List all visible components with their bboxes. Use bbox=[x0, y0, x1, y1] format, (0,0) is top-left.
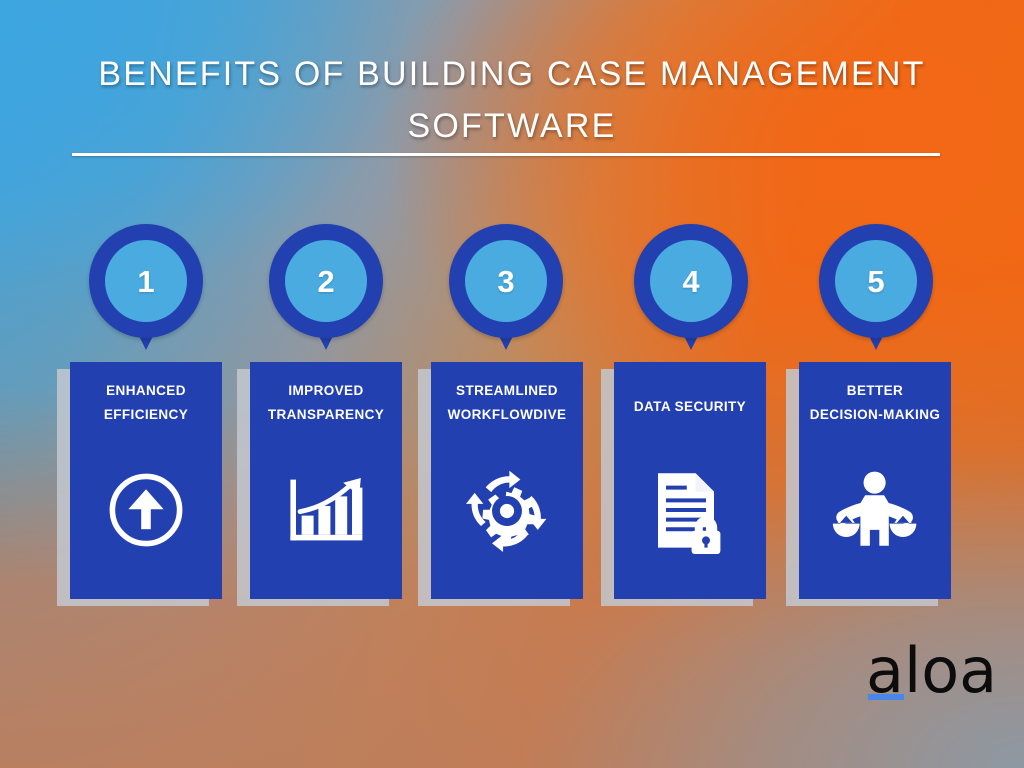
pin-number: 1 bbox=[137, 266, 154, 297]
aloa-logo[interactable]: aloa bbox=[866, 640, 1000, 706]
pin-number: 4 bbox=[682, 266, 699, 297]
pin-number: 3 bbox=[497, 266, 514, 297]
benefit-card-title-2: IMPROVED TRANSPARENCY bbox=[251, 379, 401, 426]
person-balance-scales-icon bbox=[799, 470, 951, 552]
benefit-card-5[interactable]: BETTER DECISION-MAKING bbox=[799, 362, 951, 599]
page-title-line-1: BENEFITS OF BUILDING CASE MANAGEMENT bbox=[98, 55, 925, 93]
pin-inner-circle: 1 bbox=[105, 240, 187, 322]
benefit-card-4[interactable]: DATA SECURITY bbox=[614, 362, 766, 599]
logo-underline-accent bbox=[868, 694, 904, 700]
benefit-card-3[interactable]: STREAMLINED WORKFLOWDIVE bbox=[431, 362, 583, 599]
card-title-line: TRANSPARENCY bbox=[268, 407, 384, 422]
page-title: BENEFITS OF BUILDING CASE MANAGEMENT SOF… bbox=[72, 48, 952, 152]
step-pin-4[interactable]: 4 bbox=[634, 224, 748, 338]
card-title-line: ENHANCED bbox=[106, 383, 186, 398]
step-pin-5[interactable]: 5 bbox=[819, 224, 933, 338]
pin-inner-circle: 4 bbox=[650, 240, 732, 322]
circle-up-arrow-icon bbox=[70, 470, 222, 550]
benefit-card-2[interactable]: IMPROVED TRANSPARENCY bbox=[250, 362, 402, 599]
pin-inner-circle: 3 bbox=[465, 240, 547, 322]
benefit-card-title-1: ENHANCED EFFICIENCY bbox=[71, 379, 221, 426]
pin-number: 5 bbox=[867, 266, 884, 297]
card-title-line: WORKFLOWDIVE bbox=[448, 407, 567, 422]
benefit-card-1[interactable]: ENHANCED EFFICIENCY bbox=[70, 362, 222, 599]
pin-inner-circle: 2 bbox=[285, 240, 367, 322]
card-title-line: BETTER bbox=[847, 383, 903, 398]
title-divider bbox=[72, 153, 940, 156]
step-pin-2[interactable]: 2 bbox=[269, 224, 383, 338]
pin-inner-circle: 5 bbox=[835, 240, 917, 322]
step-pin-1[interactable]: 1 bbox=[89, 224, 203, 338]
benefit-card-title-3: STREAMLINED WORKFLOWDIVE bbox=[432, 379, 582, 426]
document-lock-icon bbox=[614, 470, 766, 554]
card-title-line: DECISION-MAKING bbox=[810, 407, 941, 422]
growth-bar-chart-icon bbox=[250, 470, 402, 550]
step-pin-3[interactable]: 3 bbox=[449, 224, 563, 338]
gear-rotation-arrows-icon bbox=[431, 470, 583, 552]
card-title-line: DATA SECURITY bbox=[634, 399, 746, 414]
benefit-card-title-4: DATA SECURITY bbox=[615, 395, 765, 419]
pin-number: 2 bbox=[317, 266, 334, 297]
page-title-line-2: SOFTWARE bbox=[408, 107, 617, 145]
card-title-line: EFFICIENCY bbox=[104, 407, 188, 422]
benefit-card-title-5: BETTER DECISION-MAKING bbox=[800, 379, 950, 426]
card-title-line: STREAMLINED bbox=[456, 383, 558, 398]
infographic-slide: BENEFITS OF BUILDING CASE MANAGEMENT SOF… bbox=[0, 0, 1024, 768]
card-title-line: IMPROVED bbox=[288, 383, 363, 398]
